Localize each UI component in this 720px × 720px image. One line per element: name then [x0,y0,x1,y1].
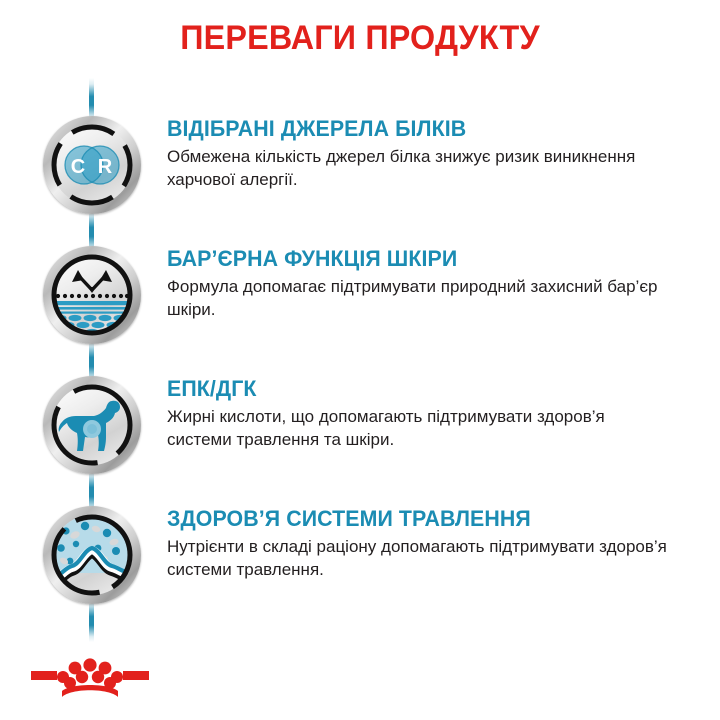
digestive-health-icon-art [52,515,132,595]
benefit-body: Нутрієнти в складі раціону допомагають п… [167,535,667,581]
benefit-item: ЗДОРОВ’Я СИСТЕМИ ТРАВЛЕННЯ Нутрієнти в с… [0,506,720,606]
benefit-heading: ВІДІБРАНІ ДЖЕРЕЛА БІЛКІВ [167,116,681,142]
dog-silhouette-icon-disc [52,385,132,465]
benefit-text-block: ЕПК/ДГК Жирні кислоти, що допомагають пі… [167,376,697,451]
protein-sources-icon: C R [43,116,141,214]
benefit-item: ЕПК/ДГК Жирні кислоти, що допомагають пі… [0,376,720,476]
skin-barrier-icon [43,246,141,344]
benefit-heading: БАР’ЄРНА ФУНКЦІЯ ШКІРИ [167,246,681,272]
benefit-text-block: ЗДОРОВ’Я СИСТЕМИ ТРАВЛЕННЯ Нутрієнти в с… [167,506,697,581]
icon-letter-c: C [71,156,85,178]
royal-canin-crown-logo [31,655,149,699]
dog-silhouette-icon-art [52,385,132,465]
dog-silhouette-icon [43,376,141,474]
skin-barrier-icon-art [52,255,132,335]
skin-barrier-icon-disc [52,255,132,335]
protein-sources-icon-disc: C R [52,125,132,205]
benefit-text-block: БАР’ЄРНА ФУНКЦІЯ ШКІРИ Формула допомагає… [167,246,697,321]
benefit-item: БАР’ЄРНА ФУНКЦІЯ ШКІРИ Формула допомагає… [0,246,720,346]
benefit-heading: ЗДОРОВ’Я СИСТЕМИ ТРАВЛЕННЯ [167,506,681,532]
protein-sources-icon-art: C R [52,125,132,205]
benefit-heading: ЕПК/ДГК [167,376,681,402]
digestive-health-icon [43,506,141,604]
page-title: ПЕРЕВАГИ ПРОДУКТУ [18,18,702,58]
benefit-text-block: ВІДІБРАНІ ДЖЕРЕЛА БІЛКІВ Обмежена кількі… [167,116,697,191]
benefit-item: C R ВІДІБРАНІ ДЖЕРЕЛА БІЛКІВ Обмежена кі… [0,116,720,216]
benefit-body: Формула допомагає підтримувати природний… [167,275,667,321]
icon-letter-r: R [98,156,113,178]
benefit-body: Обмежена кількість джерел білка знижує р… [167,145,667,191]
digestive-health-icon-disc [52,515,132,595]
benefit-body: Жирні кислоти, що допомагають підтримува… [167,405,667,451]
